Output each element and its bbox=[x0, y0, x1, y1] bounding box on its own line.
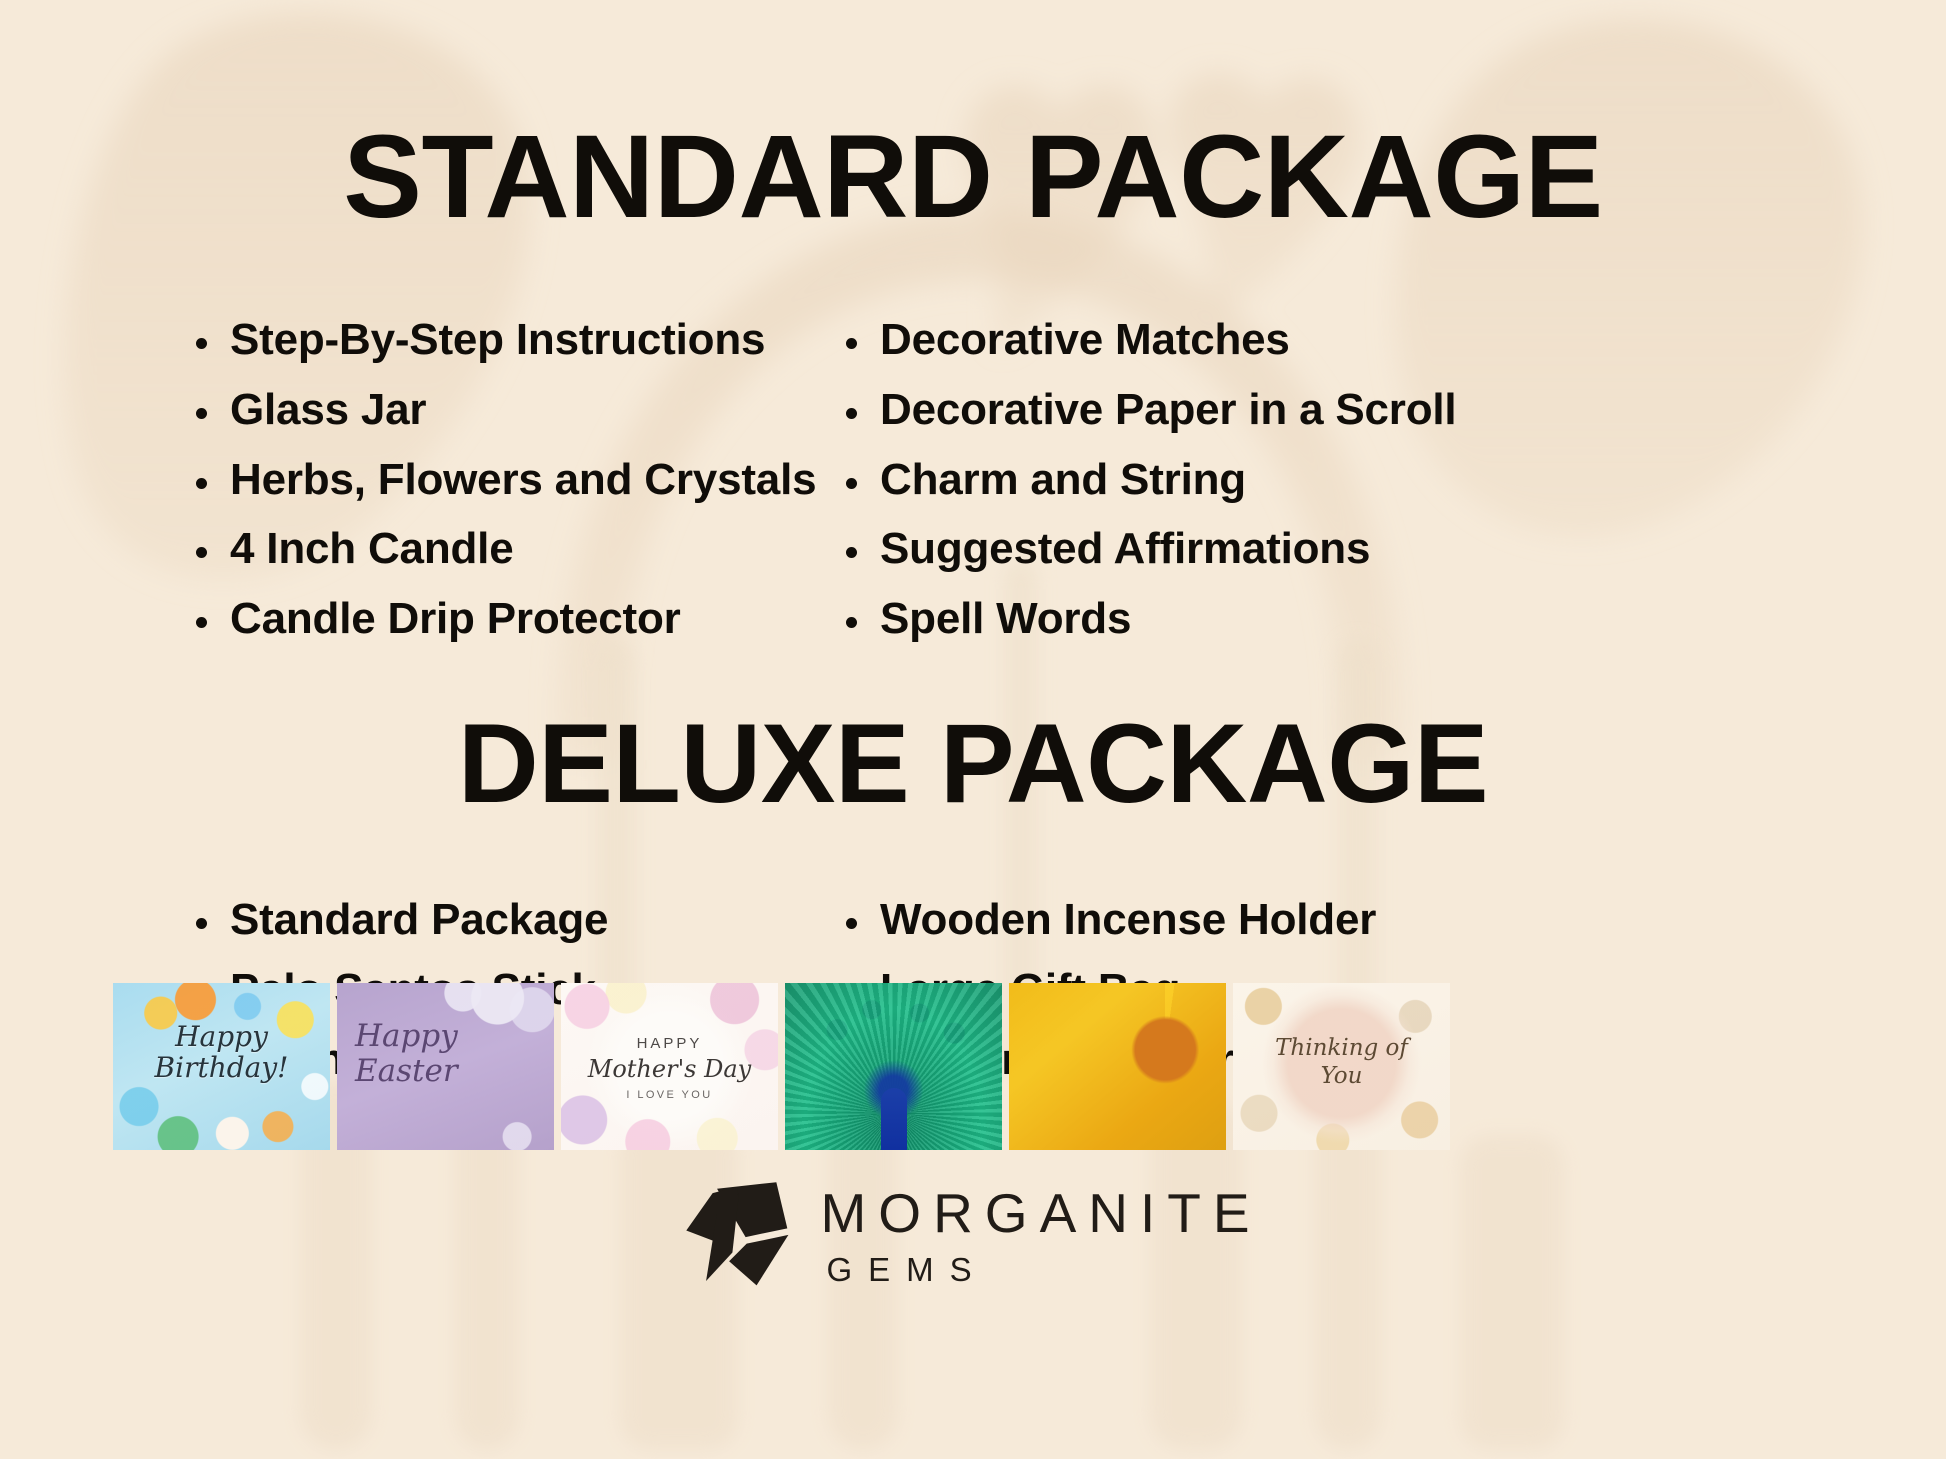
list-item-label: Spell Words bbox=[880, 594, 1131, 645]
list-item-label: Decorative Paper in a Scroll bbox=[880, 385, 1456, 436]
card-thumbnail-happy-mothers-day[interactable]: HAPPY Mother's Day I LOVE YOU bbox=[561, 983, 778, 1150]
slide-canvas: STANDARD PACKAGE Step-By-Step Instructio… bbox=[0, 0, 1946, 1459]
bullet-dot-icon bbox=[846, 918, 857, 929]
list-item-label: Step-By-Step Instructions bbox=[230, 315, 765, 366]
list-item: Decorative Matches bbox=[846, 315, 1456, 366]
bullet-dot-icon bbox=[196, 918, 207, 929]
list-item-label: Wooden Incense Holder bbox=[880, 895, 1376, 946]
bullet-dot-icon bbox=[846, 338, 857, 349]
card-caption-top: HAPPY bbox=[561, 1035, 778, 1052]
greeting-card-strip: Happy Birthday! Happy Easter HAPPY Mothe… bbox=[113, 983, 1835, 1150]
brand-name: MORGANITE bbox=[820, 1186, 1261, 1241]
deluxe-package-title: DELUXE PACKAGE bbox=[0, 708, 1946, 820]
list-item: Wooden Incense Holder bbox=[846, 895, 1376, 946]
bullet-dot-icon bbox=[196, 408, 207, 419]
card-thumbnail-yellow-flower[interactable] bbox=[1009, 983, 1226, 1150]
list-item-label: Charm and String bbox=[880, 455, 1246, 506]
brand-subtitle: GEMS bbox=[826, 1253, 1261, 1286]
peacock-body-shape bbox=[881, 1088, 907, 1150]
list-item: Step-By-Step Instructions bbox=[196, 315, 846, 366]
card-caption-main: Mother's Day bbox=[561, 1055, 778, 1083]
bullet-dot-icon bbox=[196, 338, 207, 349]
bullet-dot-icon bbox=[846, 547, 857, 558]
list-item: Herbs, Flowers and Crystals bbox=[196, 455, 846, 506]
standard-package-lists: Step-By-Step Instructions Glass Jar Herb… bbox=[0, 315, 1946, 664]
list-item: Decorative Paper in a Scroll bbox=[846, 385, 1456, 436]
list-item-label: Glass Jar bbox=[230, 385, 426, 436]
list-item: Suggested Affirmations bbox=[846, 524, 1456, 575]
standard-left-column: Step-By-Step Instructions Glass Jar Herb… bbox=[196, 315, 846, 664]
bullet-dot-icon bbox=[196, 617, 207, 628]
list-item: Spell Words bbox=[846, 594, 1456, 645]
standard-right-list: Decorative Matches Decorative Paper in a… bbox=[846, 315, 1456, 645]
list-item-label: Standard Package bbox=[230, 895, 608, 946]
list-item-label: Candle Drip Protector bbox=[230, 594, 681, 645]
faceted-gem-icon bbox=[684, 1180, 794, 1292]
card-thumbnail-happy-birthday[interactable]: Happy Birthday! bbox=[113, 983, 330, 1150]
bullet-dot-icon bbox=[196, 547, 207, 558]
list-item: Glass Jar bbox=[196, 385, 846, 436]
list-item-label: Herbs, Flowers and Crystals bbox=[230, 455, 816, 506]
list-item-label: Decorative Matches bbox=[880, 315, 1290, 366]
standard-package-title: STANDARD PACKAGE bbox=[0, 118, 1946, 236]
list-item-label: 4 Inch Candle bbox=[230, 524, 513, 575]
standard-right-column: Decorative Matches Decorative Paper in a… bbox=[846, 315, 1456, 664]
bullet-dot-icon bbox=[196, 478, 207, 489]
card-caption: Happy Easter bbox=[337, 1019, 554, 1090]
bullet-dot-icon bbox=[846, 617, 857, 628]
card-thumbnail-thinking-of-you[interactable]: Thinking of You bbox=[1233, 983, 1450, 1150]
card-caption: Happy Birthday! bbox=[113, 1021, 330, 1084]
card-caption: Thinking of You bbox=[1233, 1035, 1450, 1090]
standard-left-list: Step-By-Step Instructions Glass Jar Herb… bbox=[196, 315, 846, 645]
card-caption-sub: I LOVE YOU bbox=[561, 1089, 778, 1101]
list-item: 4 Inch Candle bbox=[196, 524, 846, 575]
brand-wordmark: MORGANITE GEMS bbox=[820, 1186, 1261, 1286]
brand-logo-lockup: MORGANITE GEMS bbox=[0, 1180, 1946, 1292]
bullet-dot-icon bbox=[846, 408, 857, 419]
list-item: Charm and String bbox=[846, 455, 1456, 506]
card-thumbnail-peacock[interactable] bbox=[785, 983, 1002, 1150]
card-thumbnail-happy-easter[interactable]: Happy Easter bbox=[337, 983, 554, 1150]
list-item: Standard Package bbox=[196, 895, 846, 946]
bullet-dot-icon bbox=[846, 478, 857, 489]
list-item-label: Suggested Affirmations bbox=[880, 524, 1370, 575]
list-item: Candle Drip Protector bbox=[196, 594, 846, 645]
